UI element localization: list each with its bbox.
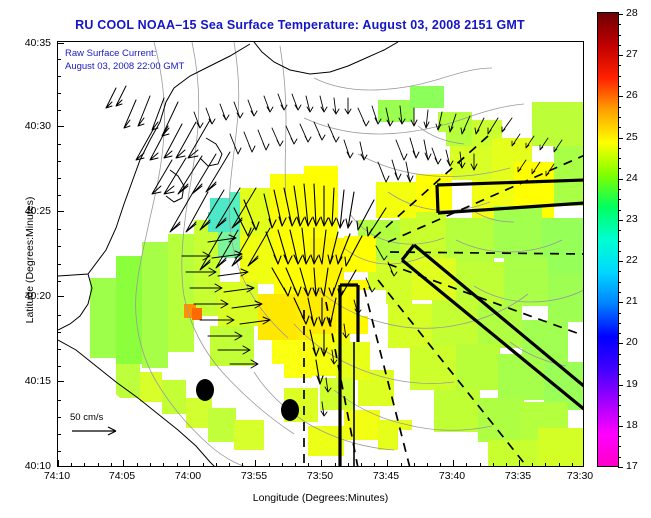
y-tick-label: 40:15 <box>8 375 51 387</box>
colorbar-minor-tick <box>618 117 621 118</box>
station-marker <box>196 379 214 401</box>
colorbar-minor-tick <box>618 354 621 355</box>
y-axis-minor-tick <box>58 76 61 77</box>
current-annotation-line1: Raw Surface Current: <box>65 47 184 60</box>
x-axis-minor-tick <box>282 463 283 466</box>
x-axis-minor-tick <box>269 463 270 466</box>
colorbar-minor-tick <box>618 313 621 314</box>
colorbar-tick <box>618 261 623 262</box>
temperature-colorbar[interactable] <box>597 12 619 467</box>
colorbar-minor-tick <box>618 446 621 447</box>
y-axis-minor-tick <box>58 332 61 333</box>
map-plot-area[interactable]: Raw Surface Current: August 03, 2008 22:… <box>57 41 584 467</box>
y-axis-minor-tick <box>58 144 61 145</box>
colorbar-tick <box>618 14 623 15</box>
colorbar-tick <box>618 385 623 386</box>
y-axis-minor-tick <box>58 366 61 367</box>
x-axis-minor-tick <box>308 463 309 466</box>
colorbar-minor-tick <box>618 333 621 334</box>
colorbar-tick-label: 24 <box>626 172 638 184</box>
y-axis-minor-tick <box>58 110 61 111</box>
x-tick-label: 73:55 <box>241 470 267 482</box>
colorbar-minor-tick <box>618 416 621 417</box>
x-tick-label: 73:45 <box>373 470 399 482</box>
y-axis-minor-tick <box>58 93 61 94</box>
x-axis-minor-tick <box>361 463 362 466</box>
x-axis-minor-tick <box>427 463 428 466</box>
current-annotation-line2: August 03, 2008 22:00 GMT <box>65 60 184 73</box>
colorbar-minor-tick <box>618 436 621 437</box>
colorbar-minor-tick <box>618 210 621 211</box>
y-axis-minor-tick <box>58 434 61 435</box>
colorbar-minor-tick <box>618 199 621 200</box>
station-marker <box>281 399 299 421</box>
x-tick-label: 73:30 <box>567 470 593 482</box>
y-axis-minor-tick <box>58 417 61 418</box>
colorbar-tick-label: 25 <box>626 131 638 143</box>
colorbar-tick <box>618 343 623 344</box>
colorbar-tick-label: 23 <box>626 213 638 225</box>
y-axis-minor-tick <box>58 246 61 247</box>
colorbar-tick-label: 27 <box>626 48 638 60</box>
x-axis-minor-tick <box>84 463 85 466</box>
x-tick-label: 73:40 <box>439 470 465 482</box>
colorbar-minor-tick <box>618 35 621 36</box>
colorbar-tick <box>618 55 623 56</box>
x-tick-label: 74:05 <box>109 470 135 482</box>
x-tick-label: 74:00 <box>175 470 201 482</box>
colorbar-minor-tick <box>618 189 621 190</box>
x-axis-minor-tick <box>163 463 164 466</box>
colorbar-minor-tick <box>618 292 621 293</box>
colorbar-minor-tick <box>618 251 621 252</box>
x-axis-minor-tick <box>295 463 296 466</box>
current-annotation: Raw Surface Current: August 03, 2008 22:… <box>65 47 184 73</box>
colorbar-minor-tick <box>618 65 621 66</box>
x-axis-minor-tick <box>71 463 72 466</box>
x-axis-minor-tick <box>137 463 138 466</box>
colorbar-minor-tick <box>618 127 621 128</box>
y-tick-label: 40:10 <box>8 460 51 472</box>
colorbar-tick-label: 26 <box>626 89 638 101</box>
y-axis-minor-tick <box>58 59 61 60</box>
x-axis-minor-tick <box>177 463 178 466</box>
colorbar-minor-tick <box>618 405 621 406</box>
x-axis-minor-tick <box>348 463 349 466</box>
colorbar-minor-tick <box>618 107 621 108</box>
colorbar-tick-label: 17 <box>626 460 638 472</box>
x-axis-minor-tick <box>111 463 112 466</box>
y-tick-label: 40:35 <box>8 37 51 49</box>
colorbar-tick-label: 18 <box>626 419 638 431</box>
colorbar-minor-tick <box>618 457 621 458</box>
colorbar-tick-label: 19 <box>626 378 638 390</box>
y-axis-minor-tick <box>58 315 61 316</box>
colorbar-tick <box>618 96 623 97</box>
colorbar-minor-tick <box>618 158 621 159</box>
colorbar-tick <box>618 467 623 468</box>
colorbar-tick <box>618 426 623 427</box>
colorbar-tick <box>618 138 623 139</box>
colorbar-minor-tick <box>618 86 621 87</box>
x-axis-minor-tick <box>374 463 375 466</box>
y-axis-minor-tick <box>58 195 61 196</box>
x-axis-minor-tick <box>466 463 467 466</box>
colorbar-tick-label: 28 <box>626 7 638 19</box>
x-axis-minor-tick <box>401 463 402 466</box>
colorbar-minor-tick <box>618 282 621 283</box>
x-axis-minor-tick <box>414 463 415 466</box>
y-axis-title: Latitude (Degrees:Minutes) <box>24 160 36 360</box>
sst-raster-and-overlays <box>58 42 584 467</box>
y-axis-minor-tick <box>58 264 61 265</box>
colorbar-tick <box>618 179 623 180</box>
velocity-scale-label: 50 cm/s <box>70 412 126 423</box>
x-tick-label: 73:35 <box>505 470 531 482</box>
figure-title: RU COOL NOAA–15 Sea Surface Temperature:… <box>0 18 600 32</box>
colorbar-minor-tick <box>618 364 621 365</box>
colorbar-minor-tick <box>618 271 621 272</box>
y-axis-minor-tick <box>58 161 61 162</box>
colorbar-minor-tick <box>618 148 621 149</box>
x-axis-minor-tick <box>203 463 204 466</box>
y-axis-minor-tick <box>58 451 61 452</box>
x-axis-minor-tick <box>545 463 546 466</box>
sst-pixel-field <box>90 86 584 467</box>
colorbar-minor-tick <box>618 395 621 396</box>
x-tick-label: 73:50 <box>307 470 333 482</box>
x-axis-minor-tick <box>506 463 507 466</box>
colorbar-minor-tick <box>618 24 621 25</box>
x-axis-minor-tick <box>229 463 230 466</box>
colorbar-minor-tick <box>618 168 621 169</box>
colorbar-minor-tick <box>618 76 621 77</box>
colorbar-minor-tick <box>618 45 621 46</box>
colorbar-tick-label: 20 <box>626 336 638 348</box>
velocity-scale-key: 50 cm/s <box>70 412 126 437</box>
colorbar-tick <box>618 220 623 221</box>
sst-map-figure: RU COOL NOAA–15 Sea Surface Temperature:… <box>0 0 651 518</box>
colorbar-tick-label: 22 <box>626 254 638 266</box>
velocity-scale-arrow-icon <box>70 425 126 437</box>
x-axis-minor-tick <box>150 463 151 466</box>
colorbar-minor-tick <box>618 230 621 231</box>
x-axis-minor-tick <box>98 463 99 466</box>
x-axis-minor-tick <box>493 463 494 466</box>
y-axis-minor-tick <box>58 400 61 401</box>
colorbar-tick <box>618 302 623 303</box>
colorbar-minor-tick <box>618 323 621 324</box>
x-axis-minor-tick <box>440 463 441 466</box>
x-axis-minor-tick <box>572 463 573 466</box>
colorbar-minor-tick <box>618 374 621 375</box>
x-axis-minor-tick <box>335 463 336 466</box>
x-axis-minor-tick <box>480 463 481 466</box>
y-axis-minor-tick <box>58 281 61 282</box>
colorbar-minor-tick <box>618 241 621 242</box>
y-tick-label: 40:30 <box>8 120 51 132</box>
x-axis-minor-tick <box>216 463 217 466</box>
x-axis-minor-tick <box>532 463 533 466</box>
x-axis-title: Longitude (Degrees:Minutes) <box>57 492 584 504</box>
y-axis-minor-tick <box>58 349 61 350</box>
colorbar-tick-label: 21 <box>626 295 638 307</box>
colorbar-gradient <box>598 13 618 466</box>
y-axis-minor-tick <box>58 178 61 179</box>
y-axis-minor-tick <box>58 229 61 230</box>
x-axis-minor-tick <box>559 463 560 466</box>
x-axis-minor-tick <box>242 463 243 466</box>
map-canvas: Raw Surface Current: August 03, 2008 22:… <box>58 42 583 466</box>
